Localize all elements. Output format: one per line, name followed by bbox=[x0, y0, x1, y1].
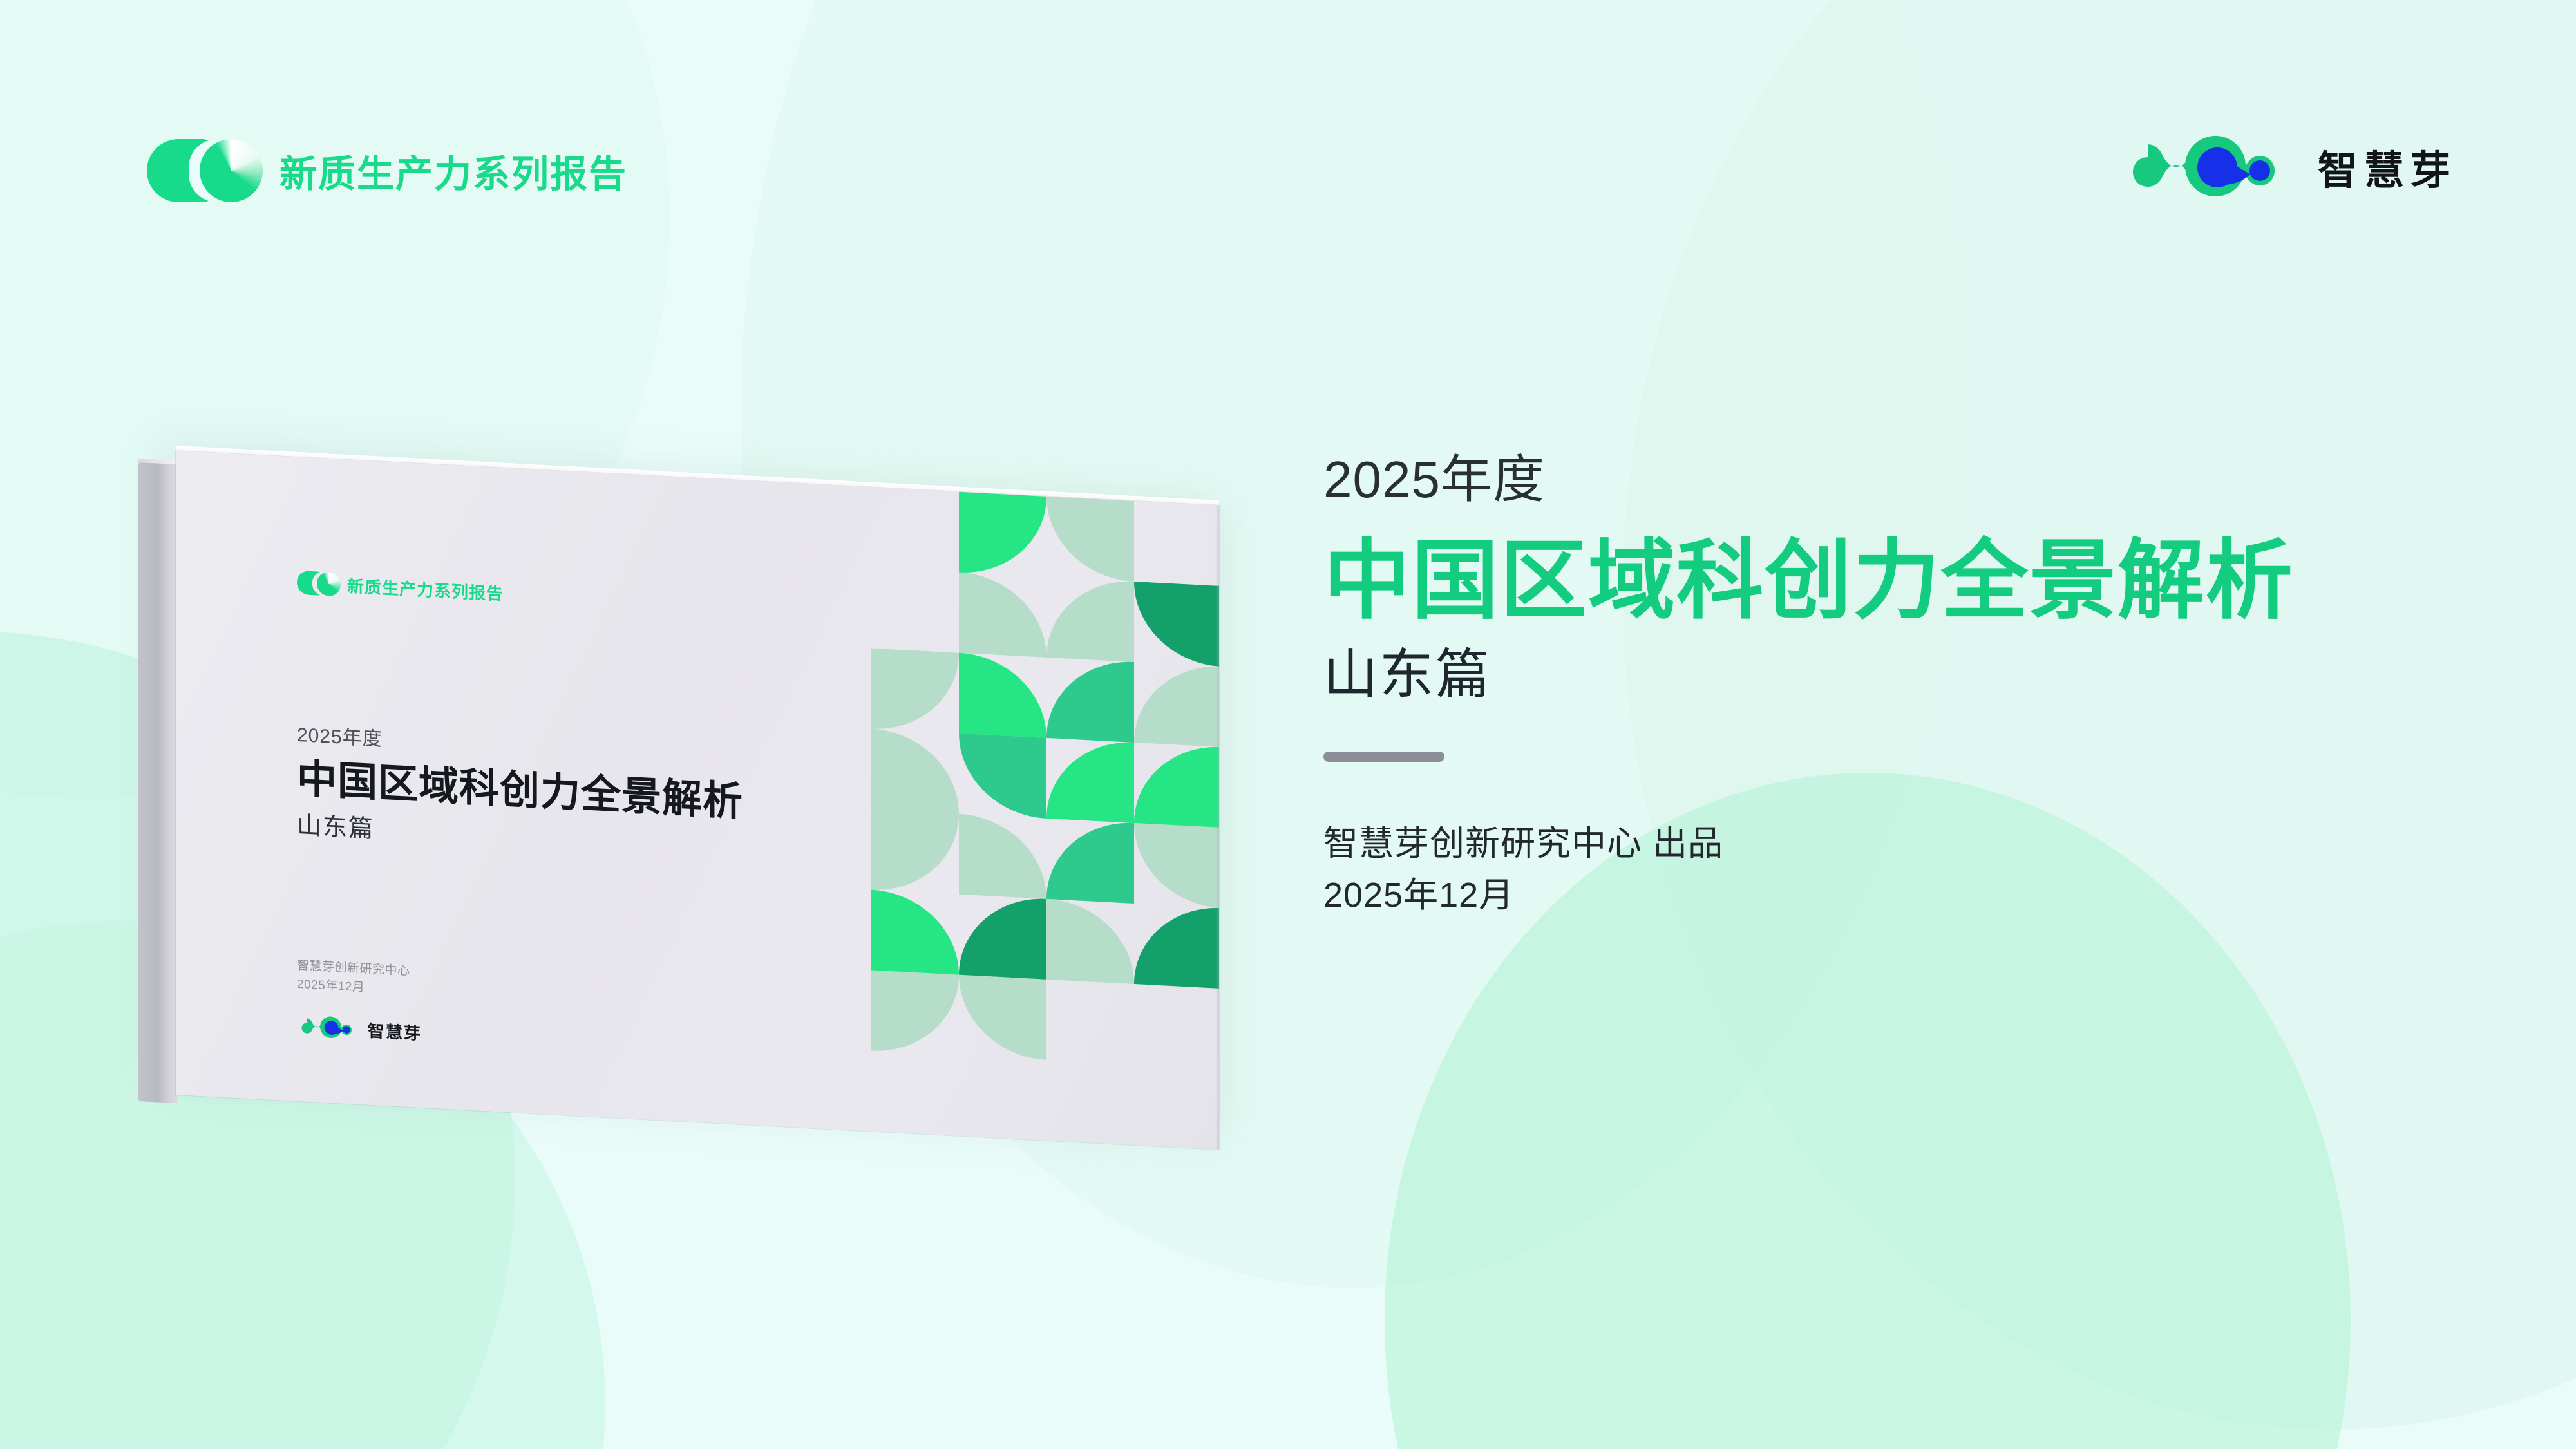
pattern-tile bbox=[871, 810, 959, 895]
pattern-tile bbox=[1134, 1065, 1219, 1150]
pattern-tile bbox=[871, 1051, 959, 1136]
patsnap-molecule-icon bbox=[2119, 129, 2295, 205]
hero-text-column: 2025年度 中国区域科创力全景解析 山东篇 智慧芽创新研究中心 出品 2025… bbox=[1323, 454, 2508, 922]
pattern-tile bbox=[1134, 984, 1219, 1069]
cover-brand-logo: 智慧芽 bbox=[297, 1012, 422, 1046]
hero-meta: 智慧芽创新研究中心 出品 2025年12月 bbox=[1323, 819, 2508, 922]
pattern-tile bbox=[1134, 904, 1219, 989]
cover-meta: 智慧芽创新研究中心 2025年12月 bbox=[297, 957, 410, 999]
pattern-tile bbox=[871, 729, 959, 814]
pattern-tile bbox=[959, 895, 1046, 980]
pattern-tile bbox=[1046, 497, 1134, 582]
book-right-edge bbox=[1215, 506, 1219, 1150]
pattern-tile bbox=[1134, 823, 1219, 908]
pattern-tile bbox=[959, 734, 1046, 819]
book-cover: 新质生产力系列报告 2025年度 中国区域科创力全景解析 山东篇 智慧芽创新研究… bbox=[176, 451, 1219, 1150]
pattern-tile bbox=[1134, 582, 1219, 667]
pattern-tile bbox=[1134, 743, 1219, 828]
pattern-tile bbox=[959, 975, 1046, 1060]
hero-subtitle: 山东篇 bbox=[1323, 645, 2508, 704]
pattern-tile bbox=[1046, 738, 1134, 823]
slide-canvas: 新质生产力系列报告 智慧芽 2025年度 中国区域科创力全景解析 山东篇 智慧芽… bbox=[0, 0, 2576, 1449]
hero-divider bbox=[1323, 752, 1444, 762]
book-spine bbox=[138, 462, 178, 1103]
pattern-tile bbox=[1134, 501, 1219, 586]
brand-label: 智慧芽 bbox=[2318, 138, 2457, 196]
cover-series-mark-icon bbox=[297, 571, 339, 596]
pattern-tile bbox=[1046, 658, 1134, 743]
pattern-tile bbox=[871, 488, 959, 573]
pattern-tile bbox=[871, 649, 959, 734]
series-badge: 新质生产力系列报告 bbox=[147, 139, 627, 202]
pattern-tile bbox=[959, 573, 1046, 658]
pattern-tile bbox=[871, 890, 959, 975]
series-mark-icon bbox=[147, 139, 261, 202]
pattern-tile bbox=[1046, 577, 1134, 662]
pattern-tile bbox=[1046, 1060, 1134, 1145]
hero-meta-publisher: 智慧芽创新研究中心 出品 bbox=[1323, 819, 2508, 870]
cover-series-badge: 新质生产力系列报告 bbox=[297, 571, 504, 605]
cover-subtitle: 山东篇 bbox=[297, 805, 374, 844]
pattern-tile bbox=[1134, 662, 1219, 747]
series-badge-label: 新质生产力系列报告 bbox=[279, 144, 627, 198]
pattern-tile bbox=[871, 971, 959, 1056]
book-mockup: 新质生产力系列报告 2025年度 中国区域科创力全景解析 山东篇 智慧芽创新研究… bbox=[138, 444, 1253, 1127]
brand-logo: 智慧芽 bbox=[2119, 129, 2457, 205]
pattern-tile bbox=[959, 653, 1046, 738]
cover-geometric-pattern bbox=[871, 488, 1219, 1150]
pattern-tile bbox=[1046, 819, 1134, 904]
pattern-tile bbox=[1046, 980, 1134, 1065]
pattern-tile bbox=[959, 814, 1046, 899]
pattern-tile bbox=[871, 568, 959, 653]
pattern-tile bbox=[959, 492, 1046, 577]
pattern-tile bbox=[1046, 899, 1134, 984]
hero-title: 中国区域科创力全景解析 bbox=[1323, 534, 2508, 628]
pattern-tile bbox=[959, 1056, 1046, 1141]
cover-series-label: 新质生产力系列报告 bbox=[347, 573, 504, 605]
cover-brand-label: 智慧芽 bbox=[368, 1018, 422, 1044]
hero-year: 2025年度 bbox=[1323, 454, 2508, 506]
cover-patsnap-molecule-icon bbox=[297, 1012, 359, 1043]
hero-meta-date: 2025年12月 bbox=[1323, 870, 2508, 922]
